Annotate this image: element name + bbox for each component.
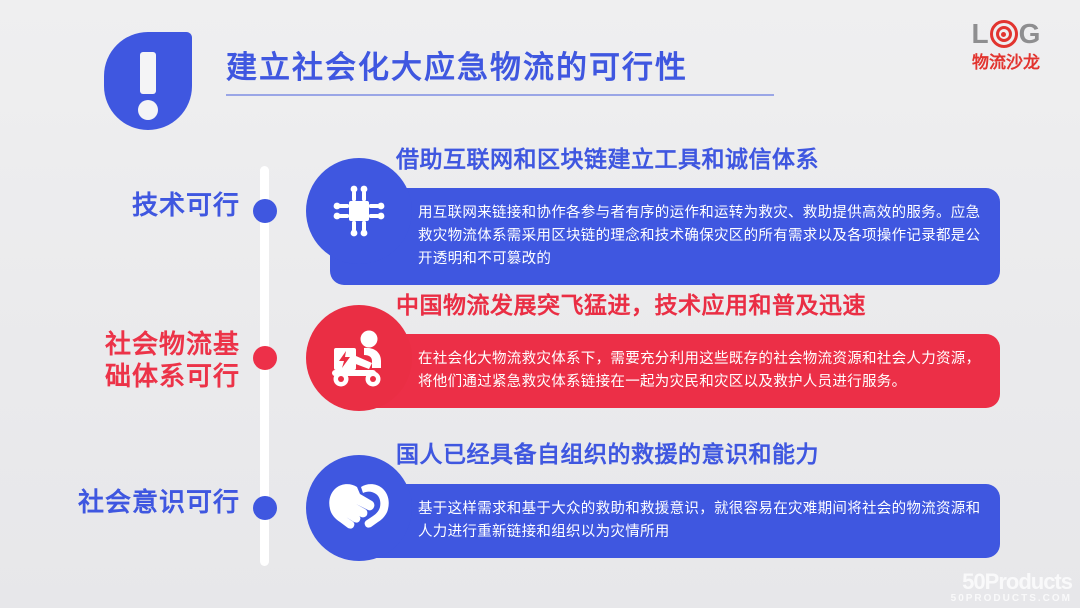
exclamation-dot [138, 100, 158, 120]
row-label-technology: 技术可行 [132, 189, 240, 221]
logo-chinese-name: 物流沙龙 [954, 53, 1058, 73]
target-inner-ring [996, 26, 1012, 42]
timeline-dot-3 [253, 496, 277, 520]
brand-logo: L G 物流沙龙 [954, 16, 1058, 78]
timeline-dot-1 [253, 199, 277, 223]
handshake-icon [306, 455, 412, 561]
page-title: 建立社会化大应急物流的可行性 [226, 42, 688, 87]
timeline-dot-2 [253, 346, 277, 370]
card-body-awareness: 基于这样需求和基于大众的救助和救援意识，就很容易在灾难期间将社会的物流资源和人力… [330, 484, 1000, 558]
row-label-logistics: 社会物流基 础体系可行 [105, 328, 240, 392]
page-header: 建立社会化大应急物流的可行性 L G 物流沙龙 [0, 0, 1080, 125]
card-heading-technology: 借助互联网和区块链建立工具和诚信体系 [396, 140, 819, 174]
watermark: 50Products 50PRODUCTS.COM [951, 571, 1072, 604]
logo-letter-g: G [1019, 20, 1041, 48]
card-heading-logistics: 中国物流发展突飞猛进，技术应用和普及迅速 [396, 286, 866, 320]
card-body-logistics: 在社会化大物流救灾体系下，需要充分利用这些既存的社会物流资源和社会人力资源，将他… [330, 334, 1000, 408]
delivery-scooter-icon [306, 305, 412, 411]
title-underline-divider [226, 94, 774, 96]
logo-letter-l: L [972, 20, 989, 48]
microchip-icon [306, 158, 412, 264]
card-heading-awareness: 国人已经具备自组织的救援的意识和能力 [396, 435, 819, 469]
watermark-sub-text: 50PRODUCTS.COM [951, 594, 1072, 604]
logo-wordmark: L G [954, 16, 1058, 52]
target-ring-icon [990, 20, 1018, 48]
row-label-awareness: 社会意识可行 [78, 486, 240, 518]
exclamation-bar [140, 52, 156, 94]
exclamation-mark-icon [104, 32, 192, 130]
watermark-main-text: 50Products [951, 571, 1072, 593]
card-body-technology: 用互联网来链接和协作各参与者有序的运作和运转为救灾、救助提供高效的服务。应急救灾… [330, 188, 1000, 285]
target-core-dot [1001, 32, 1006, 37]
